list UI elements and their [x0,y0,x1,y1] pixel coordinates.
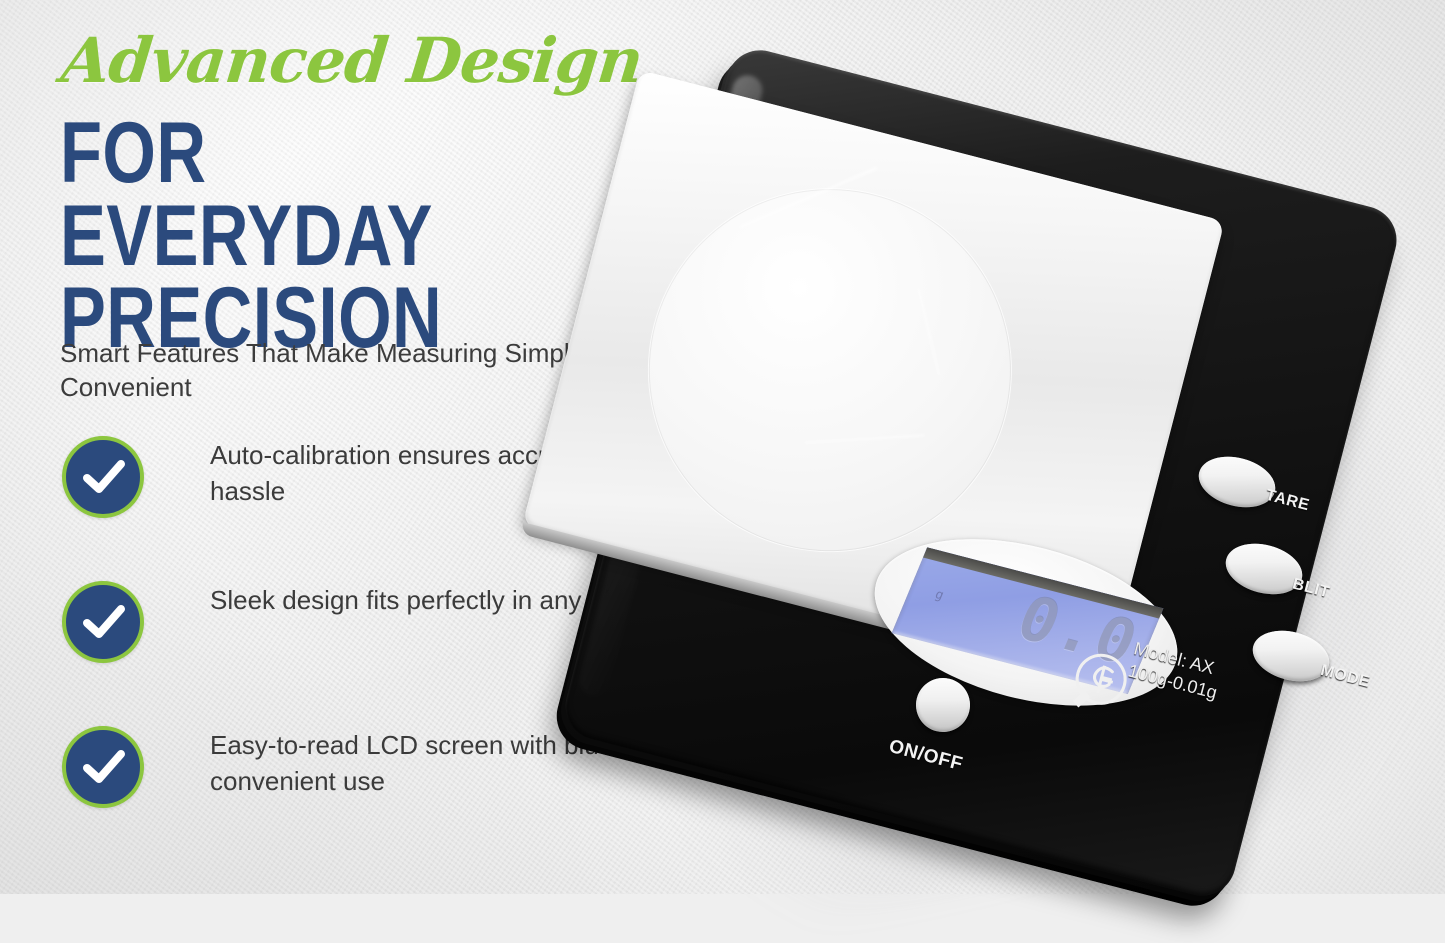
script-heading: Advanced Design [58,24,646,97]
check-icon [62,726,144,808]
product-image: g 0.0 TARE BLIT MODE ON/OFF Model: AX 10… [600,40,1445,894]
check-icon [62,581,144,663]
subheading: Smart Features That Make Measuring Simpl… [60,336,640,405]
lcd-unit-label: g [933,587,946,603]
check-icon [62,436,144,518]
headline-line-1: FOR EVERYDAY [60,112,588,277]
platform-embossed-circle [609,150,1050,591]
scale-scene: g 0.0 TARE BLIT MODE ON/OFF Model: AX 10… [600,40,1445,894]
page-title: FOR EVERYDAY PRECISION [60,112,588,360]
